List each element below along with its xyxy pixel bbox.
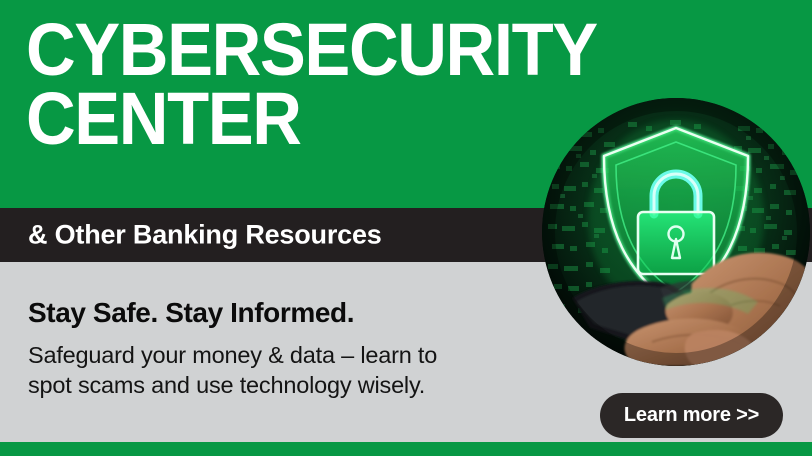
learn-more-button[interactable]: Learn more >> — [600, 393, 783, 438]
hero-image-circle — [542, 98, 810, 366]
page-title: CYBERSECURITY CENTER — [26, 16, 528, 154]
body-copy-line-2: spot scams and use technology wisely. — [28, 370, 548, 400]
subtitle-bar-label: & Other Banking Resources — [28, 220, 382, 251]
cybersecurity-center-banner: CYBERSECURITY CENTER & Other Banking Res… — [0, 0, 812, 456]
subheading: Stay Safe. Stay Informed. — [28, 297, 354, 329]
shield-lock-icon — [542, 98, 810, 366]
body-copy-line-1: Safeguard your money & data – learn to — [28, 340, 548, 370]
learn-more-label: Learn more >> — [624, 404, 759, 427]
headline-line-1: CYBERSECURITY — [26, 16, 528, 85]
body-copy: Safeguard your money & data – learn to s… — [28, 340, 548, 400]
bottom-green-bar — [0, 442, 812, 456]
headline-line-2: CENTER — [26, 85, 528, 154]
